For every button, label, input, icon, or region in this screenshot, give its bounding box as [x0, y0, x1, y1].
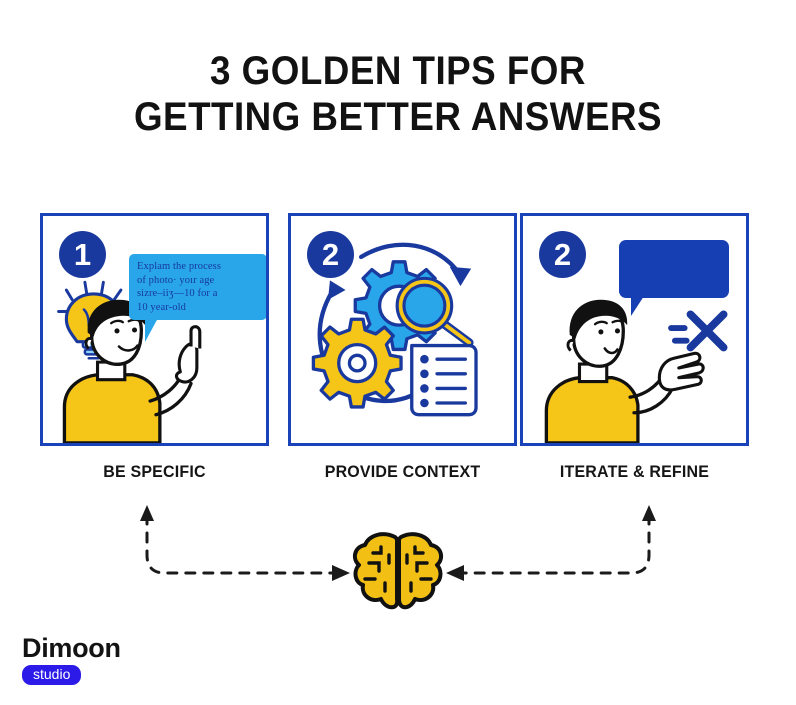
speech-bubble-icon — [619, 240, 729, 298]
tip-panel-1: 1 Explam the process of photo· yoır age … — [40, 213, 269, 446]
bubble-line-3: sizre–iiʒ—10 for a — [137, 287, 260, 301]
tip-panel-3: 2 — [520, 213, 749, 446]
speech-bubble-tail — [145, 318, 158, 342]
flow-diagram — [0, 495, 796, 615]
arrow-head-right-icon — [450, 267, 471, 286]
panel-1-badge: 1 — [59, 231, 106, 278]
page-title: 3 GOLDEN TIPS FOR GETTING BETTER ANSWERS — [0, 48, 796, 140]
tip-panel-2: 2 — [288, 213, 517, 446]
panel-2-badge: 2 — [307, 231, 354, 278]
bubble-line-2: of photo· yoır age — [137, 274, 260, 288]
caption-provide-context: PROVIDE CONTEXT — [295, 462, 510, 482]
person-gesturing-icon — [546, 300, 703, 443]
arrow-head-up-left-icon — [140, 505, 154, 521]
arrow-head-right-icon — [332, 565, 350, 581]
logo-sub-badge: studio — [22, 665, 81, 685]
x-mark-icon — [671, 314, 724, 347]
caption-be-specific: BE SPECIFIC — [47, 462, 262, 482]
logo-name: Dimoon — [22, 634, 121, 662]
title-line-2: GETTING BETTER ANSWERS — [32, 94, 764, 140]
brain-icon — [355, 534, 441, 607]
arrow-head-left-icon — [328, 280, 346, 299]
speech-bubble-tail — [631, 296, 644, 316]
caption-row: BE SPECIFIC PROVIDE CONTEXT ITERATE & RE… — [40, 462, 756, 488]
dashed-arrow-left-branch — [147, 515, 338, 573]
brand-logo: Dimoon studio — [22, 634, 121, 685]
checklist-icon — [412, 346, 476, 415]
panel-3-badge: 2 — [539, 231, 586, 278]
dashed-arrow-right-branch — [458, 515, 649, 573]
caption-iterate-refine: ITERATE & REFINE — [527, 462, 742, 482]
gear-yellow-icon — [313, 319, 401, 407]
bubble-line-1: Explam the process — [137, 260, 260, 274]
title-line-1: 3 GOLDEN TIPS FOR — [32, 48, 764, 94]
bubble-line-4: 10 year-old — [137, 301, 260, 315]
arrow-head-left-icon — [446, 565, 464, 581]
tips-panel-row: 1 Explam the process of photo· yoır age … — [40, 213, 756, 450]
speech-bubble-icon: Explam the process of photo· yoır age si… — [129, 254, 267, 320]
arrow-head-up-right-icon — [642, 505, 656, 521]
